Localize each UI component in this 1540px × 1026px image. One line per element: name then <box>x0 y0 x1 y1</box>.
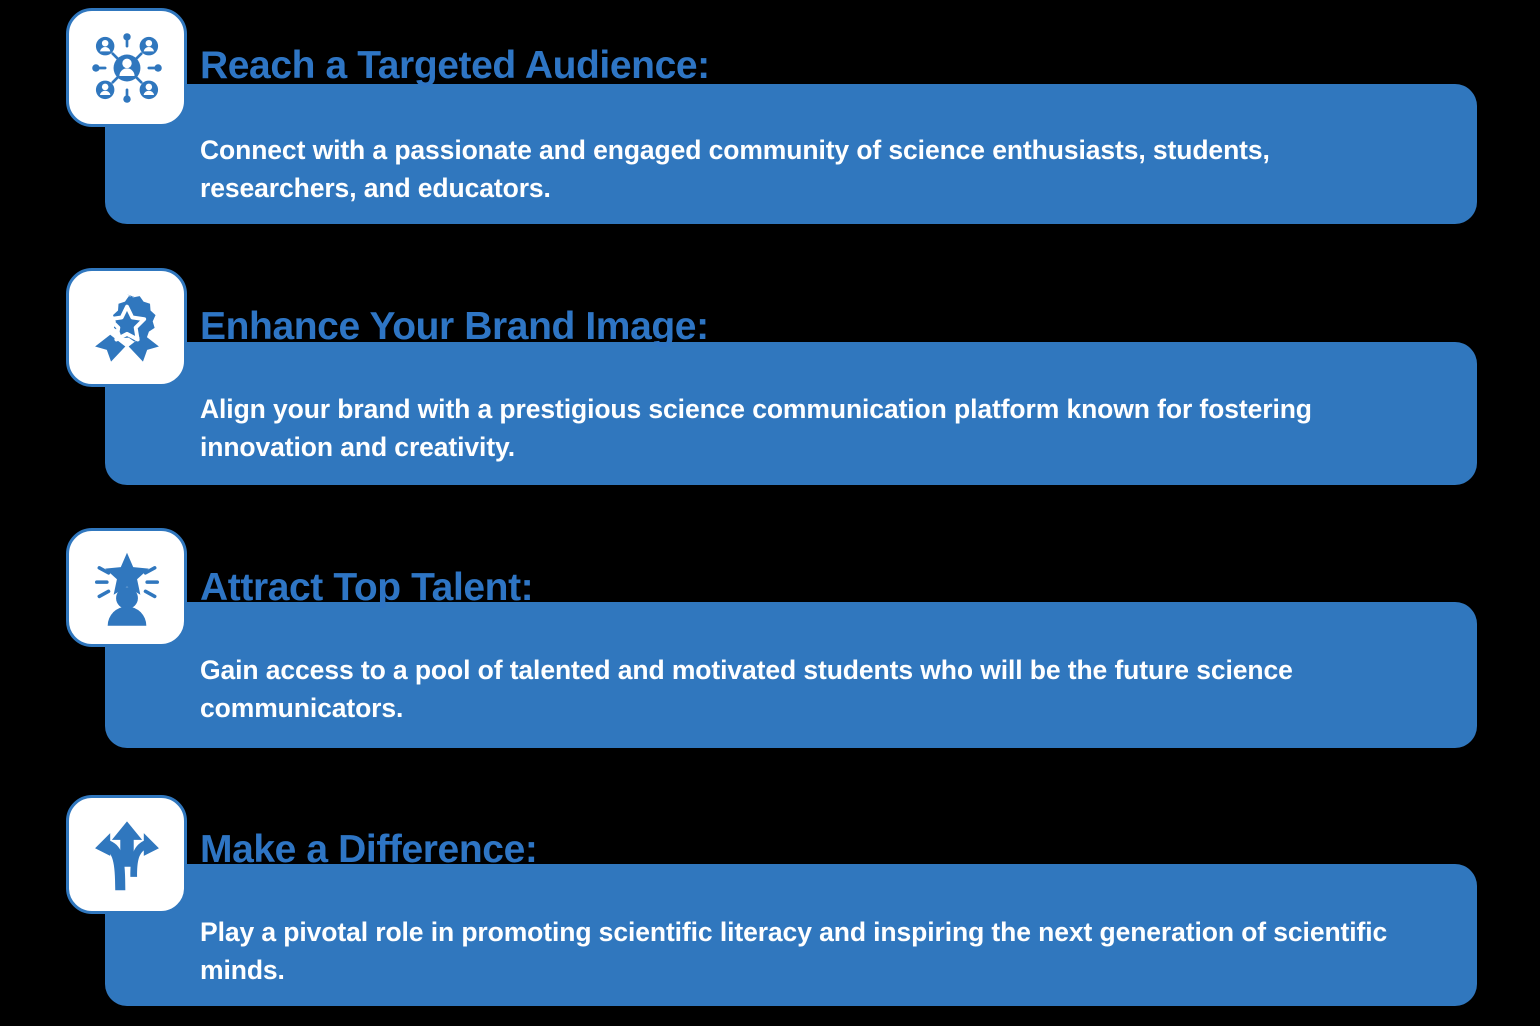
benefit-body: Play a pivotal role in promoting scienti… <box>200 913 1430 990</box>
benefit-card: Make a Difference: Play a pivotal role i… <box>0 786 1540 1026</box>
benefit-body: Align your brand with a prestigious scie… <box>200 390 1430 467</box>
benefit-body: Connect with a passionate and engaged co… <box>200 131 1430 208</box>
benefits-list: Reach a Targeted Audience: Connect with … <box>0 0 1540 1026</box>
benefit-heading: Make a Difference: <box>200 830 537 871</box>
benefit-heading: Enhance Your Brand Image: <box>200 307 709 348</box>
star-talent-person-icon <box>66 528 187 647</box>
benefit-body: Gain access to a pool of talented and mo… <box>200 651 1430 728</box>
three-way-arrows-icon <box>66 795 187 914</box>
benefit-card: Attract Top Talent: Gain access to a poo… <box>0 524 1540 764</box>
benefit-card: Enhance Your Brand Image: Align your bra… <box>0 262 1540 502</box>
award-badge-icon <box>66 268 187 387</box>
benefit-heading: Attract Top Talent: <box>200 568 533 609</box>
audience-network-icon <box>66 8 187 127</box>
benefit-card: Reach a Targeted Audience: Connect with … <box>0 0 1540 240</box>
benefit-heading: Reach a Targeted Audience: <box>200 46 710 87</box>
